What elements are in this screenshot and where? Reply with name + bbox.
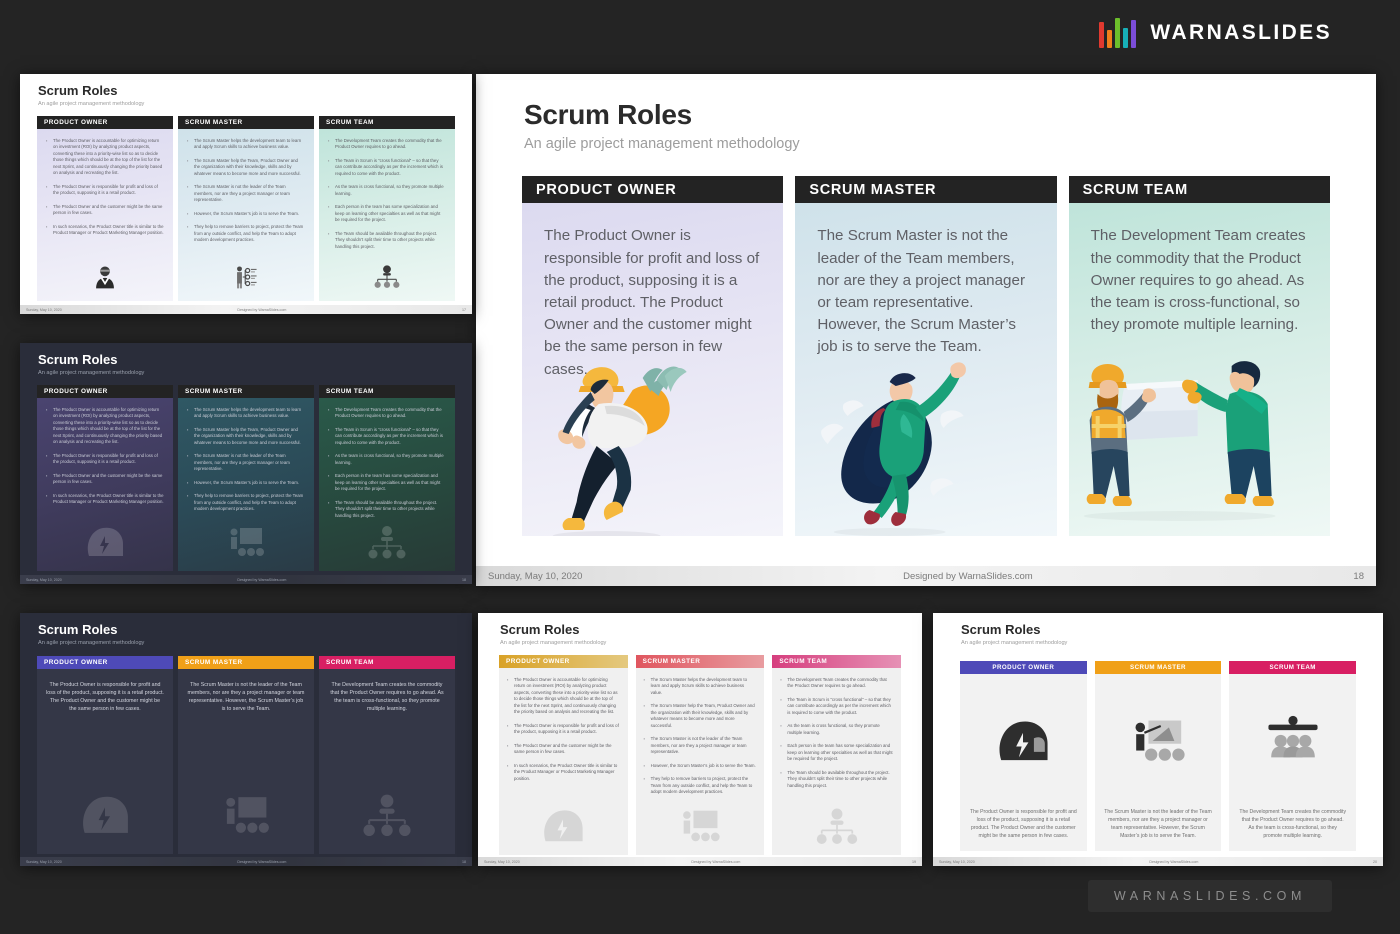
presenter-audience-icon [178,522,314,567]
footer-credit: Designed by WarnaSlides.com [62,860,462,864]
column-header-scrum-team: SCRUM TEAM [319,385,455,398]
page-subtitle: An agile project management methodology [961,640,1383,646]
column-body-product-owner: The Product Owner is responsible for pro… [37,669,173,854]
column-scrum-team[interactable]: SCRUM TEAM The Development Team creates … [1069,176,1330,536]
list-item: The Scrum Master help the Team, Product … [644,703,757,729]
column-body-product-owner: The Product Owner is responsible for pro… [960,674,1087,851]
list-item: The Team should be available throughout … [328,231,446,251]
column-header-product-owner: PRODUCT OWNER [960,661,1087,674]
summary-scrum-master: The Scrum Master is not the leader of th… [187,681,305,714]
list-item: As the team is cross functional, so they… [780,723,893,736]
column-header-scrum-master: SCRUM MASTER [178,116,314,129]
footer-page-number: 17 [462,308,466,312]
page-title: Scrum Roles [500,623,922,637]
list-item: The Product Owner and the customer might… [46,204,164,217]
page-title: Scrum Roles [38,623,472,637]
footer-credit: Designed by WarnaSlides.com [520,860,912,864]
column-product-owner[interactable]: PRODUCT OWNER The Product Owner is accou… [37,385,173,571]
list-item: They help to remove barriers to project,… [187,224,305,244]
team-network-icon [1229,674,1356,809]
column-body-scrum-team: The Development Team creates the commodi… [1229,674,1356,851]
list-item: The Product Owner is accountable for opt… [46,138,164,177]
list-item: The Product Owner and the customer might… [507,743,620,756]
footer-date: Sunday, May 10, 2020 [939,860,975,864]
footer-page-number: 19 [912,860,916,864]
column-header-scrum-team: SCRUM TEAM [319,116,455,129]
page-title: Scrum Roles [524,100,1376,129]
column-scrum-master[interactable]: SCRUM MASTER The Scrum Master helps the … [178,116,314,301]
page-subtitle: An agile project management methodology [38,101,472,107]
team-network-icon [319,789,455,846]
bullet-list-scrum-master: The Scrum Master helps the development t… [187,407,305,513]
summary-scrum-master: The Scrum Master is not the leader of th… [817,225,1034,358]
summary-product-owner: The Product Owner is responsible for pro… [46,681,164,714]
list-item: The Scrum Master helps the development t… [644,677,757,697]
column-body-scrum-master: The Scrum Master helps the development t… [178,398,314,571]
list-item: The Team should be available throughout … [328,500,446,520]
summary-scrum-team: The Development Team creates the commodi… [328,681,446,714]
footer-credit: Designed by WarnaSlides.com [975,860,1373,864]
column-scrum-team[interactable]: SCRUM TEAM The Development Team creates … [319,116,455,301]
footer-page-number: 18 [1353,571,1364,582]
slide-thumbnail-light-bullets[interactable]: Scrum Roles An agile project management … [20,74,472,314]
footer-page-number: 20 [1373,860,1377,864]
column-body-scrum-master: The Scrum Master helps the development t… [178,129,314,301]
column-product-owner[interactable]: PRODUCT OWNER The Product Owner is accou… [499,655,628,855]
page-title: Scrum Roles [38,84,472,98]
summary-scrum-team: The Development Team creates the commodi… [1229,809,1356,851]
list-item: The Product Owner is responsible for pro… [46,184,164,197]
column-scrum-master[interactable]: SCRUM MASTER The Scrum Master helps the … [178,385,314,571]
list-item: The Scrum Master help the Team, Product … [187,158,305,178]
person-checklist-icon [178,264,314,295]
column-body-scrum-team: The Development Team creates the commodi… [319,398,455,571]
column-scrum-master[interactable]: SCRUM MASTER The Scrum Master is not the… [795,176,1056,536]
warnaslides-bars-icon [1099,18,1136,48]
slide-thumbnail-dark-bullets[interactable]: Scrum Roles An agile project management … [20,343,472,584]
head-lightning-icon [37,789,173,846]
list-item: The Product Owner is responsible for pro… [46,453,164,466]
role-columns: PRODUCT OWNER The Product Owner is accou… [37,385,455,571]
list-item: In such scenarios, the Product Owner tit… [46,224,164,237]
column-scrum-team[interactable]: SCRUM TEAM The Development Team creates … [772,655,901,855]
list-item: The Scrum Master is not the leader of th… [644,736,757,756]
summary-scrum-master: The Scrum Master is not the leader of th… [1095,809,1222,851]
footer-date: Sunday, May 10, 2020 [26,860,62,864]
page-title: Scrum Roles [961,623,1383,637]
brand-name: WARNASLIDES [1150,21,1332,45]
bullet-list-scrum-team: The Development Team creates the commodi… [328,138,446,251]
column-header-scrum-master: SCRUM MASTER [178,385,314,398]
presentation-preview-page: WARNASLIDES Scrum Roles An agile project… [0,0,1400,934]
list-item: However, the Scrum Master’s job is to se… [187,211,305,218]
list-item: The Scrum Master helps the development t… [187,138,305,151]
footer-date: Sunday, May 10, 2020 [26,578,62,582]
list-item: The Development Team creates the commodi… [328,407,446,420]
head-lightning-icon [960,674,1087,809]
org-chart-icon [319,264,455,295]
list-item: As the team is cross functional, so they… [328,453,446,466]
list-item: The Development Team creates the commodi… [780,677,893,690]
list-item: The Scrum Master is not the leader of th… [187,453,305,473]
main-slide-preview[interactable]: Scrum Roles An agile project management … [476,74,1376,586]
column-body-scrum-master: The Scrum Master is not the leader of th… [1095,674,1222,851]
slide-footer: Sunday, May 10, 2020 Designed by WarnaSl… [478,857,922,866]
slide-thumbnail-dark-color-headers[interactable]: Scrum Roles An agile project management … [20,613,472,866]
bullet-list-scrum-team: The Development Team creates the commodi… [328,407,446,520]
column-product-owner[interactable]: PRODUCT OWNER The Product Owner is respo… [37,656,173,854]
column-product-owner[interactable]: PRODUCT OWNER The Product Owner is respo… [960,661,1087,851]
column-header-scrum-team: SCRUM TEAM [319,656,455,669]
column-header-product-owner: PRODUCT OWNER [499,655,628,668]
column-body-product-owner: The Product Owner is responsible for pro… [522,203,783,536]
slide-thumbnail-light-solid-headers[interactable]: Scrum Roles An agile project management … [933,613,1383,866]
role-columns: PRODUCT OWNER The Product Owner is respo… [522,176,1330,536]
farmer-carrying-carrot-illustration [522,346,783,536]
column-body-product-owner: The Product Owner is accountable for opt… [37,398,173,571]
column-body-scrum-master: The Scrum Master helps the development t… [636,668,765,855]
page-subtitle: An agile project management methodology [38,640,472,646]
footer-credit: Designed by WarnaSlides.com [62,308,462,312]
role-columns: PRODUCT OWNER The Product Owner is accou… [499,655,901,855]
column-product-owner[interactable]: PRODUCT OWNER The Product Owner is accou… [37,116,173,301]
team-network-icon [319,522,455,567]
list-item: The Team should be available throughout … [780,770,893,790]
column-header-scrum-team: SCRUM TEAM [1229,661,1356,674]
list-item: The Product Owner is accountable for opt… [46,407,164,446]
column-body-scrum-master: The Scrum Master is not the leader of th… [795,203,1056,536]
column-body-scrum-team: The Development Team creates the commodi… [772,668,901,855]
bullet-list-scrum-master: The Scrum Master helps the development t… [187,138,305,244]
page-subtitle: An agile project management methodology [38,370,472,376]
column-scrum-team[interactable]: SCRUM TEAM The Development Team creates … [319,656,455,854]
column-header-scrum-master: SCRUM MASTER [795,176,1056,203]
list-item: The Team in Scrum is “cross functional” … [328,158,446,178]
page-subtitle: An agile project management methodology [524,136,1376,152]
footer-date: Sunday, May 10, 2020 [26,308,62,312]
team-network-icon [772,804,901,853]
footer-page-number: 18 [462,860,466,864]
list-item: The Team in Scrum is “cross functional” … [328,427,446,447]
footer-page-number: 18 [462,578,466,582]
bullet-list-product-owner: The Product Owner is accountable for opt… [507,677,620,783]
column-header-scrum-team: SCRUM TEAM [1069,176,1330,203]
list-item: The Development Team creates the commodi… [328,138,446,151]
bullet-list-scrum-team: The Development Team creates the commodi… [780,677,893,790]
role-columns: PRODUCT OWNER The Product Owner is respo… [37,656,455,854]
list-item: Each person in the team has some special… [780,743,893,763]
list-item: The Scrum Master is not the leader of th… [187,184,305,204]
column-scrum-team[interactable]: SCRUM TEAM The Development Team creates … [1229,661,1356,851]
column-header-scrum-team: SCRUM TEAM [772,655,901,668]
role-columns: PRODUCT OWNER The Product Owner is accou… [37,116,455,301]
column-body-product-owner: The Product Owner is accountable for opt… [499,668,628,855]
column-scrum-master[interactable]: SCRUM MASTER The Scrum Master is not the… [1095,661,1222,851]
list-item: The Team in Scrum is “cross functional” … [780,697,893,717]
summary-product-owner: The Product Owner is responsible for pro… [960,809,1087,851]
slide-thumbnail-light-gradient-headers[interactable]: Scrum Roles An agile project management … [478,613,922,866]
list-item: The Product Owner is accountable for opt… [507,677,620,716]
column-header-product-owner: PRODUCT OWNER [37,656,173,669]
two-workers-blueprint-illustration [1069,346,1330,536]
list-item: The Product Owner and the customer might… [46,473,164,486]
slide-footer: Sunday, May 10, 2020 Designed by WarnaSl… [20,857,472,866]
slide-footer: Sunday, May 10, 2020 Designed by WarnaSl… [476,566,1376,586]
role-columns: PRODUCT OWNER The Product Owner is respo… [960,661,1356,851]
page-subtitle: An agile project management methodology [500,640,922,646]
head-lightning-icon [499,804,628,853]
list-item: The Product Owner is responsible for pro… [507,723,620,736]
page-title: Scrum Roles [38,353,472,367]
footer-credit: Designed by WarnaSlides.com [582,571,1353,582]
bullet-list-scrum-master: The Scrum Master helps the development t… [644,677,757,796]
column-scrum-team[interactable]: SCRUM TEAM The Development Team creates … [319,385,455,571]
column-header-product-owner: PRODUCT OWNER [37,116,173,129]
presenter-audience-icon [178,789,314,846]
slide-footer: Sunday, May 10, 2020 Designed by WarnaSl… [20,305,472,314]
column-scrum-master[interactable]: SCRUM MASTER The Scrum Master helps the … [636,655,765,855]
presenter-audience-icon [1095,674,1222,809]
column-header-scrum-master: SCRUM MASTER [636,655,765,668]
column-product-owner[interactable]: PRODUCT OWNER The Product Owner is respo… [522,176,783,536]
list-item: They help to remove barriers to project,… [187,493,305,513]
column-body-scrum-team: The Development Team creates the commodi… [1069,203,1330,536]
flying-superhero-illustration [795,346,1056,536]
footer-date: Sunday, May 10, 2020 [488,571,582,582]
footer-date: Sunday, May 10, 2020 [484,860,520,864]
column-body-scrum-team: The Development Team creates the commodi… [319,669,455,854]
list-item: As the team is cross functional, so they… [328,184,446,197]
list-item: However, the Scrum Master’s job is to se… [644,763,757,770]
list-item: However, the Scrum Master’s job is to se… [187,480,305,487]
slide-footer: Sunday, May 10, 2020 Designed by WarnaSl… [933,857,1383,866]
column-header-scrum-master: SCRUM MASTER [1095,661,1222,674]
presenter-audience-icon [636,804,765,853]
slide-footer: Sunday, May 10, 2020 Designed by WarnaSl… [20,575,472,584]
brand-logo: WARNASLIDES [1099,18,1332,48]
column-body-product-owner: The Product Owner is accountable for opt… [37,129,173,301]
list-item: Each person in the team has some special… [328,204,446,224]
list-item: Each person in the team has some special… [328,473,446,493]
bullet-list-product-owner: The Product Owner is accountable for opt… [46,407,164,506]
column-header-scrum-master: SCRUM MASTER [178,656,314,669]
column-header-product-owner: PRODUCT OWNER [37,385,173,398]
column-scrum-master[interactable]: SCRUM MASTER The Scrum Master is not the… [178,656,314,854]
list-item: In such scenarios, the Product Owner tit… [46,493,164,506]
footer-credit: Designed by WarnaSlides.com [62,578,462,582]
column-body-scrum-team: The Development Team creates the commodi… [319,129,455,301]
list-item: The Scrum Master helps the development t… [187,407,305,420]
list-item: The Scrum Master help the Team, Product … [187,427,305,447]
column-body-scrum-master: The Scrum Master is not the leader of th… [178,669,314,854]
column-header-product-owner: PRODUCT OWNER [522,176,783,203]
list-item: They help to remove barriers to project,… [644,776,757,796]
businessman-icon [37,264,173,295]
summary-scrum-team: The Development Team creates the commodi… [1091,225,1308,336]
head-lightning-icon [37,522,173,567]
list-item: In such scenarios, the Product Owner tit… [507,763,620,783]
bullet-list-product-owner: The Product Owner is accountable for opt… [46,138,164,237]
watermark-badge: WARNASLIDES.COM [1088,880,1332,912]
